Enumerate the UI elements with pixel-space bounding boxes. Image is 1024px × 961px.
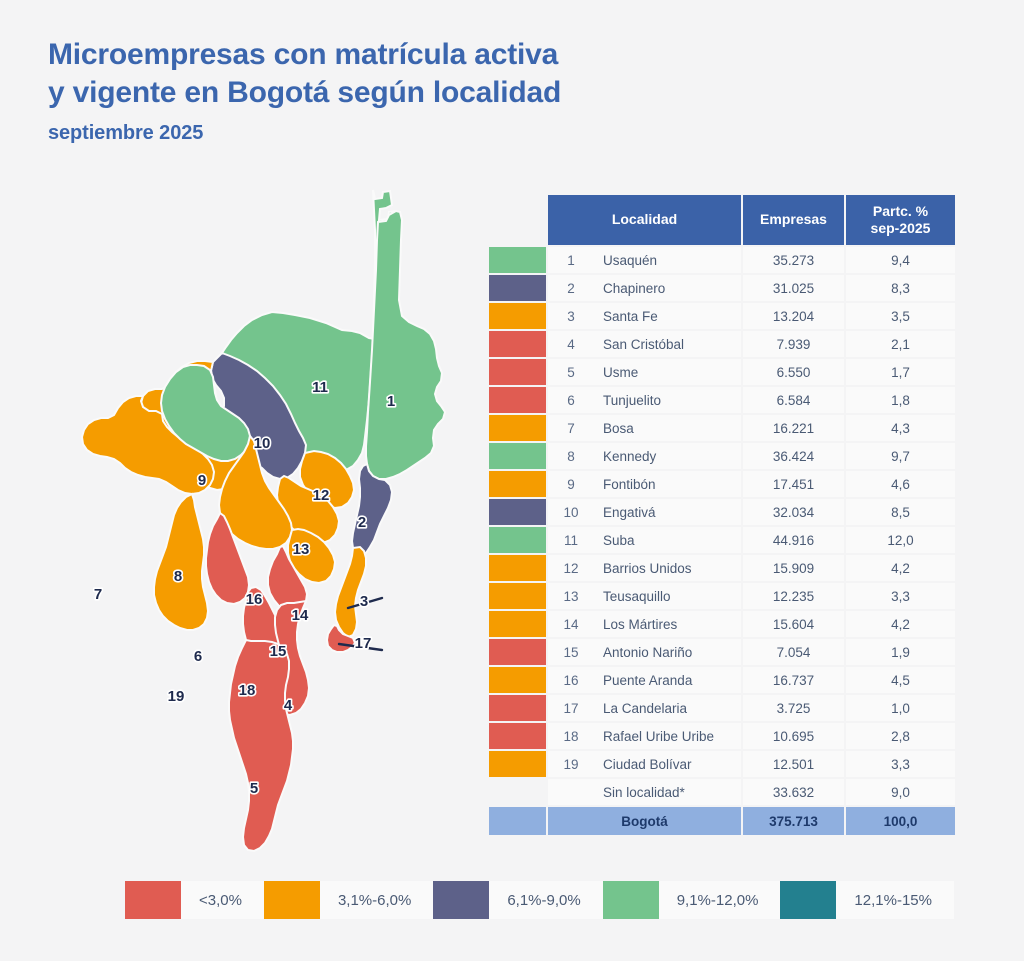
- row-partc: 3,3: [846, 583, 955, 609]
- row-color-swatch: [489, 779, 546, 805]
- row-name: Suba: [594, 533, 741, 548]
- row-empresas: 6.550: [743, 359, 844, 385]
- row-empresas: 33.632: [743, 779, 844, 805]
- row-color-swatch: [489, 667, 546, 693]
- row-localidad-cell: 16Puente Aranda: [548, 667, 741, 693]
- table-row[interactable]: 7Bosa16.2214,3: [489, 415, 961, 441]
- row-name: Usme: [594, 365, 741, 380]
- row-empresas: 32.034: [743, 499, 844, 525]
- map-label-2: 2: [358, 514, 366, 531]
- header-partc-line2: sep-2025: [871, 220, 931, 237]
- color-legend: <3,0%3,1%-6,0%6,1%-9,0%9,1%-12,0%12,1%-1…: [125, 881, 954, 919]
- page-header: Microempresas con matrícula activa y vig…: [48, 36, 808, 145]
- row-localidad-cell: 2Chapinero: [548, 275, 741, 301]
- row-localidad-cell: 3Santa Fe: [548, 303, 741, 329]
- row-empresas: 12.501: [743, 751, 844, 777]
- total-label: Bogotá: [548, 814, 741, 829]
- map-label-6: 6: [194, 648, 202, 665]
- table-row[interactable]: 12Barrios Unidos15.9094,2: [489, 555, 961, 581]
- title-line-2: y vigente en Bogotá según localidad: [48, 76, 561, 109]
- row-number: 7: [548, 421, 594, 436]
- legend-swatch: [780, 881, 836, 919]
- row-partc: 1,9: [846, 639, 955, 665]
- row-localidad-cell: 17La Candelaria: [548, 695, 741, 721]
- legend-item[interactable]: 9,1%-12,0%: [603, 881, 781, 919]
- header-localidad: Localidad: [548, 195, 741, 245]
- row-partc: 9,4: [846, 247, 955, 273]
- row-partc: 4,5: [846, 667, 955, 693]
- table-row[interactable]: Sin localidad*33.6329,0: [489, 779, 961, 805]
- legend-label: 6,1%-9,0%: [489, 892, 602, 909]
- total-empresas: 375.713: [743, 807, 844, 835]
- map-regions: [82, 190, 445, 851]
- bogota-choropleth-map: 12345678910111213141516171819: [40, 186, 480, 856]
- row-number: 10: [548, 505, 594, 520]
- table-row[interactable]: 14Los Mártires15.6044,2: [489, 611, 961, 637]
- table-row[interactable]: 3Santa Fe13.2043,5: [489, 303, 961, 329]
- row-color-swatch: [489, 443, 546, 469]
- map-label-14: 14: [292, 607, 309, 624]
- row-localidad-cell: Sin localidad*: [548, 779, 741, 805]
- row-localidad-cell: 7Bosa: [548, 415, 741, 441]
- table-row[interactable]: 15Antonio Nariño7.0541,9: [489, 639, 961, 665]
- row-color-swatch: [489, 639, 546, 665]
- row-empresas: 13.204: [743, 303, 844, 329]
- row-number: 8: [548, 449, 594, 464]
- legend-label: 9,1%-12,0%: [659, 892, 781, 909]
- table-row[interactable]: 11Suba44.91612,0: [489, 527, 961, 553]
- row-empresas: 7.054: [743, 639, 844, 665]
- legend-item[interactable]: 6,1%-9,0%: [433, 881, 602, 919]
- title-line-1: Microempresas con matrícula activa: [48, 38, 558, 71]
- total-partc: 100,0: [846, 807, 955, 835]
- row-number: 5: [548, 365, 594, 380]
- row-number: 9: [548, 477, 594, 492]
- table-row[interactable]: 5Usme6.5501,7: [489, 359, 961, 385]
- row-localidad-cell: 14Los Mártires: [548, 611, 741, 637]
- table-row[interactable]: 2Chapinero31.0258,3: [489, 275, 961, 301]
- row-name: Chapinero: [594, 281, 741, 296]
- map-label-17: 17: [355, 635, 372, 652]
- row-partc: 12,0: [846, 527, 955, 553]
- row-number: 2: [548, 281, 594, 296]
- map-label-5: 5: [250, 780, 258, 797]
- row-localidad-cell: 6Tunjuelito: [548, 387, 741, 413]
- map-label-18: 18: [239, 682, 256, 699]
- table-row[interactable]: 18Rafael Uribe Uribe10.6952,8: [489, 723, 961, 749]
- row-partc: 1,8: [846, 387, 955, 413]
- map-label-7: 7: [94, 586, 102, 603]
- row-empresas: 17.451: [743, 471, 844, 497]
- row-name: Teusaquillo: [594, 589, 741, 604]
- legend-label: <3,0%: [181, 892, 264, 909]
- map-label-13: 13: [293, 541, 310, 558]
- row-empresas: 16.737: [743, 667, 844, 693]
- row-color-swatch: [489, 499, 546, 525]
- row-color-swatch: [489, 415, 546, 441]
- map-region-19-ciudad-bolivar[interactable]: [154, 494, 208, 630]
- row-empresas: 10.695: [743, 723, 844, 749]
- table-row[interactable]: 13Teusaquillo12.2353,3: [489, 583, 961, 609]
- row-color-swatch: [489, 471, 546, 497]
- row-partc: 2,8: [846, 723, 955, 749]
- row-partc: 1,7: [846, 359, 955, 385]
- map-label-12: 12: [313, 487, 330, 504]
- table-row[interactable]: 6Tunjuelito6.5841,8: [489, 387, 961, 413]
- row-name: Santa Fe: [594, 309, 741, 324]
- row-localidad-cell: 10Engativá: [548, 499, 741, 525]
- map-label-19: 19: [168, 688, 185, 705]
- row-color-swatch: [489, 387, 546, 413]
- table-row[interactable]: 8Kennedy36.4249,7: [489, 443, 961, 469]
- row-name: Sin localidad*: [594, 785, 741, 800]
- row-localidad-cell: 15Antonio Nariño: [548, 639, 741, 665]
- row-name: La Candelaria: [594, 701, 741, 716]
- row-name: Kennedy: [594, 449, 741, 464]
- map-label-8: 8: [174, 568, 182, 585]
- row-empresas: 12.235: [743, 583, 844, 609]
- row-number: 13: [548, 589, 594, 604]
- map-label-1: 1: [387, 393, 395, 410]
- row-empresas: 15.604: [743, 611, 844, 637]
- row-localidad-cell: 19Ciudad Bolívar: [548, 751, 741, 777]
- legend-label: 12,1%-15%: [836, 892, 954, 909]
- header-partc: Partc. % sep-2025: [846, 195, 955, 245]
- legend-swatch: [125, 881, 181, 919]
- row-color-swatch: [489, 359, 546, 385]
- table-row[interactable]: 10Engativá32.0348,5: [489, 499, 961, 525]
- map-region-5-usme[interactable]: [229, 640, 293, 851]
- map-region-1-usaquen[interactable]: [366, 211, 445, 479]
- map-label-15: 15: [270, 643, 287, 660]
- map-label-3: 3: [360, 593, 368, 610]
- legend-swatch: [603, 881, 659, 919]
- legend-item[interactable]: 12,1%-15%: [780, 881, 954, 919]
- row-color-swatch: [489, 275, 546, 301]
- table-row[interactable]: 19Ciudad Bolívar12.5013,3: [489, 751, 961, 777]
- row-number: 4: [548, 337, 594, 352]
- row-partc: 8,5: [846, 499, 955, 525]
- row-name: Engativá: [594, 505, 741, 520]
- row-localidad-cell: 18Rafael Uribe Uribe: [548, 723, 741, 749]
- row-color-swatch: [489, 331, 546, 357]
- row-localidad-cell: 5Usme: [548, 359, 741, 385]
- header-swatch-spacer: [489, 195, 546, 245]
- table-row[interactable]: 9Fontibón17.4514,6: [489, 471, 961, 497]
- map-label-4: 4: [284, 697, 293, 714]
- row-color-swatch: [489, 583, 546, 609]
- page-subtitle: septiembre 2025: [48, 122, 808, 145]
- row-empresas: 3.725: [743, 695, 844, 721]
- map-label-10: 10: [254, 435, 271, 452]
- row-localidad-cell: 13Teusaquillo: [548, 583, 741, 609]
- row-number: 1: [548, 253, 594, 268]
- row-name: Rafael Uribe Uribe: [594, 729, 741, 744]
- row-name: Bosa: [594, 421, 741, 436]
- row-number: 17: [548, 701, 594, 716]
- row-number: 11: [548, 533, 594, 548]
- row-partc: 4,2: [846, 555, 955, 581]
- row-color-swatch: [489, 247, 546, 273]
- row-empresas: 6.584: [743, 387, 844, 413]
- row-partc: 8,3: [846, 275, 955, 301]
- row-empresas: 35.273: [743, 247, 844, 273]
- row-partc: 9,0: [846, 779, 955, 805]
- map-label-9: 9: [198, 472, 206, 489]
- row-color-swatch: [489, 723, 546, 749]
- row-name: Barrios Unidos: [594, 561, 741, 576]
- row-number: 15: [548, 645, 594, 660]
- row-partc: 4,6: [846, 471, 955, 497]
- row-name: Antonio Nariño: [594, 645, 741, 660]
- localidades-table: Localidad Empresas Partc. % sep-2025 1Us…: [489, 195, 961, 837]
- row-number: 3: [548, 309, 594, 324]
- row-name: Los Mártires: [594, 617, 741, 632]
- row-empresas: 36.424: [743, 443, 844, 469]
- row-partc: 4,3: [846, 415, 955, 441]
- row-localidad-cell: 12Barrios Unidos: [548, 555, 741, 581]
- row-partc: 1,0: [846, 695, 955, 721]
- row-partc: 9,7: [846, 443, 955, 469]
- row-localidad-cell: 11Suba: [548, 527, 741, 553]
- table-row[interactable]: 16Puente Aranda16.7374,5: [489, 667, 961, 693]
- row-name: Puente Aranda: [594, 673, 741, 688]
- table-row[interactable]: 17La Candelaria3.7251,0: [489, 695, 961, 721]
- row-localidad-cell: 9Fontibón: [548, 471, 741, 497]
- row-number: 6: [548, 393, 594, 408]
- row-color-swatch: [489, 527, 546, 553]
- row-localidad-cell: 1Usaquén: [548, 247, 741, 273]
- row-number: 12: [548, 561, 594, 576]
- total-localidad: Bogotá: [548, 807, 741, 835]
- header-partc-line1: Partc. %: [873, 203, 928, 220]
- row-name: Usaquén: [594, 253, 741, 268]
- row-empresas: 7.939: [743, 331, 844, 357]
- row-number: 18: [548, 729, 594, 744]
- row-empresas: 31.025: [743, 275, 844, 301]
- legend-label: 3,1%-6,0%: [320, 892, 433, 909]
- row-empresas: 16.221: [743, 415, 844, 441]
- row-color-swatch: [489, 611, 546, 637]
- table-row[interactable]: 4San Cristóbal7.9392,1: [489, 331, 961, 357]
- row-partc: 2,1: [846, 331, 955, 357]
- table-header-row: Localidad Empresas Partc. % sep-2025: [489, 195, 961, 245]
- row-number: 16: [548, 673, 594, 688]
- legend-swatch: [264, 881, 320, 919]
- row-empresas: 44.916: [743, 527, 844, 553]
- legend-item[interactable]: 3,1%-6,0%: [264, 881, 433, 919]
- row-number: 19: [548, 757, 594, 772]
- page-title: Microempresas con matrícula activa y vig…: [48, 36, 808, 112]
- header-empresas: Empresas: [743, 195, 844, 245]
- row-localidad-cell: 4San Cristóbal: [548, 331, 741, 357]
- legend-item[interactable]: <3,0%: [125, 881, 264, 919]
- total-swatch: [489, 807, 546, 835]
- row-number: 14: [548, 617, 594, 632]
- row-name: Tunjuelito: [594, 393, 741, 408]
- row-name: San Cristóbal: [594, 337, 741, 352]
- row-name: Ciudad Bolívar: [594, 757, 741, 772]
- table-body: 1Usaquén35.2739,42Chapinero31.0258,33San…: [489, 247, 961, 805]
- row-color-swatch: [489, 303, 546, 329]
- row-color-swatch: [489, 555, 546, 581]
- legend-swatch: [433, 881, 489, 919]
- table-row[interactable]: 1Usaquén35.2739,4: [489, 247, 961, 273]
- row-partc: 3,5: [846, 303, 955, 329]
- row-empresas: 15.909: [743, 555, 844, 581]
- row-partc: 4,2: [846, 611, 955, 637]
- map-svg: 12345678910111213141516171819: [40, 186, 480, 856]
- row-color-swatch: [489, 751, 546, 777]
- row-localidad-cell: 8Kennedy: [548, 443, 741, 469]
- row-partc: 3,3: [846, 751, 955, 777]
- table-total-row: Bogotá 375.713 100,0: [489, 807, 961, 835]
- map-label-16: 16: [246, 591, 263, 608]
- row-color-swatch: [489, 695, 546, 721]
- row-name: Fontibón: [594, 477, 741, 492]
- map-label-11: 11: [312, 379, 328, 396]
